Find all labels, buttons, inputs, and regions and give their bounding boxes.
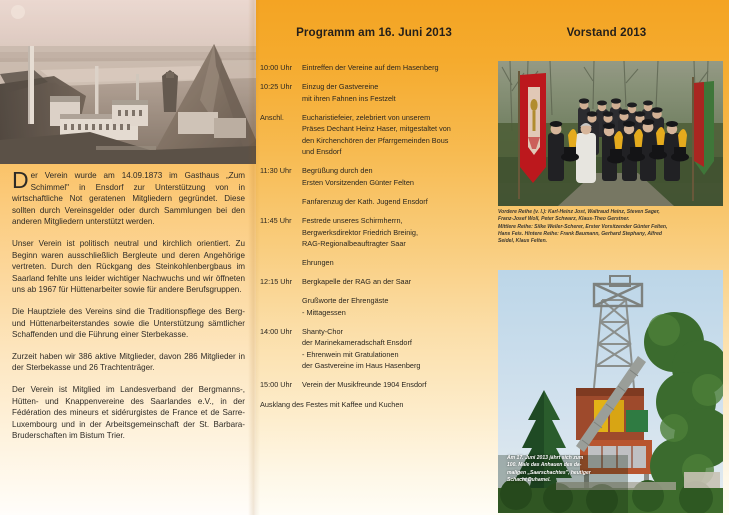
drop-cap: D [12, 171, 31, 190]
brochure-page: Der Verein wurde am 14.09.1873 im Gastha… [0, 0, 729, 515]
caption-line: Vordere Reihe (v. l.): Karl-Heinz Jost, … [498, 209, 724, 216]
program-line: Verein der Musikfreunde 1904 Ensdorf [302, 379, 492, 391]
program-line: Bergkapelle der RAG an der Saar [302, 276, 492, 288]
program-entry: Anschl. Eucharistiefeier, zelebriert von… [260, 112, 492, 158]
program-entry-greetings: Grußworte der Ehrengäste - Mittagessen [302, 295, 492, 318]
caption-line: Schacht Duhamel. [507, 477, 639, 484]
board-photo-caption: Vordere Reihe (v. l.): Karl-Heinz Jost, … [498, 209, 724, 246]
history-paragraph-3: Die Hauptziele des Vereins sind die Trad… [12, 306, 245, 341]
program-description: Shanty-Chor der Marinekameradschaft Ensd… [302, 326, 492, 372]
caption-line: 100. Male das Anhauen des da- [507, 462, 639, 469]
program-line: Eucharistiefeier, zelebriert von unserem [302, 112, 492, 124]
history-paragraph-2: Unser Verein ist politisch neutral und k… [12, 238, 245, 296]
program-column: Programm am 16. Juni 2013 10:00 Uhr Eint… [256, 0, 492, 515]
program-line: der Marinekameradschaft Ensdorf [302, 337, 492, 349]
program-closing-line: Ausklang des Festes mit Kaffee und Kuche… [260, 399, 492, 411]
program-entry: 11:45 Uhr Festrede unseres Schirmherrn, … [260, 215, 492, 250]
paragraph-body: er Verein wurde am 14.09.1873 im Gasthau… [12, 171, 245, 226]
caption-line: Mittlere Reihe: Silke Weiler-Scherer, Er… [498, 224, 724, 231]
board-column: Vorstand 2013 [492, 0, 729, 515]
history-paragraph-5: Der Verein ist Mitglied im Landesverband… [12, 384, 245, 442]
program-line: - Ehrenwein mit Gratulationen [302, 349, 492, 361]
program-line: den Kirchenchören der Pfarrgemeinden Bou… [302, 135, 492, 147]
program-line: Einzug der Gastvereine [302, 81, 492, 93]
program-description: Festrede unseres Schirmherrn, Bergwerksd… [302, 215, 492, 250]
program-line: RAG-Regionalbeauftragter Saar [302, 238, 492, 250]
program-line: Festrede unseres Schirmherrn, [302, 215, 492, 227]
program-time: 11:30 Uhr [260, 165, 302, 188]
program-entry-noteworthy: Fanfarenzug der Kath. Jugend Ensdorf [302, 196, 492, 208]
program-time: 15:00 Uhr [260, 379, 302, 391]
historic-mine-panorama-photo [0, 0, 256, 164]
program-line: Ersten Vorsitzenden Günter Felten [302, 177, 492, 189]
program-time: 10:25 Uhr [260, 81, 302, 104]
program-time: 14:00 Uhr [260, 326, 302, 372]
board-group-photo [498, 61, 723, 206]
program-line: Bergwerksdirektor Friedrich Breinig, [302, 227, 492, 239]
program-entry: 10:25 Uhr Einzug der Gastvereine mit ihr… [260, 81, 492, 104]
program-line: Präses Dechant Heinz Haser, mitgestaltet… [302, 123, 492, 135]
program-time: Anschl. [260, 112, 302, 158]
program-description: Eintreffen der Vereine auf dem Hasenberg [302, 62, 492, 74]
caption-line: Seidel, Klaus Felten. [498, 238, 724, 245]
program-entry: 12:15 Uhr Bergkapelle der RAG an der Saa… [260, 276, 492, 288]
program-description: Verein der Musikfreunde 1904 Ensdorf [302, 379, 492, 391]
program-line: Grußworte der Ehrengäste [302, 295, 492, 307]
program-entry: 15:00 Uhr Verein der Musikfreunde 1904 E… [260, 379, 492, 391]
caption-line: Franz-Josef Woll, Peter Schwarz, Klaus-T… [498, 216, 724, 223]
history-paragraph-1: Der Verein wurde am 14.09.1873 im Gastha… [12, 170, 245, 228]
caption-line: Hans Feis. Hintere Reihe: Frank Baumann,… [498, 231, 724, 238]
program-description: Begrüßung durch den Ersten Vorsitzenden … [302, 165, 492, 188]
program-line: der Gastvereine im Haus Hasenberg [302, 360, 492, 372]
program-time: 12:15 Uhr [260, 276, 302, 288]
program-line: Begrüßung durch den [302, 165, 492, 177]
program-entry-honors: Ehrungen [302, 257, 492, 269]
program-line: mit ihren Fahnen ins Festzelt [302, 93, 492, 105]
board-title: Vorstand 2013 [492, 26, 721, 39]
program-title: Programm am 16. Juni 2013 [256, 26, 492, 39]
program-entry: 14:00 Uhr Shanty-Chor der Marinekamerads… [260, 326, 492, 372]
shaft-photo-caption: Am 17. Juni 2013 jährt sich zum 100. Mal… [507, 455, 639, 485]
program-time: 10:00 Uhr [260, 62, 302, 74]
program-line: - Mittagessen [302, 307, 492, 319]
program-description: Bergkapelle der RAG an der Saar [302, 276, 492, 288]
program-entry: 10:00 Uhr Eintreffen der Vereine auf dem… [260, 62, 492, 74]
program-description: Einzug der Gastvereine mit ihren Fahnen … [302, 81, 492, 104]
program-line: Eintreffen der Vereine auf dem Hasenberg [302, 62, 492, 74]
history-paragraph-4: Zurzeit haben wir 386 aktive Mitglieder,… [12, 351, 245, 374]
left-column: Der Verein wurde am 14.09.1873 im Gastha… [0, 0, 256, 515]
program-entry: 11:30 Uhr Begrüßung durch den Ersten Vor… [260, 165, 492, 188]
program-line: und Ensdorf [302, 146, 492, 158]
club-history-text: Der Verein wurde am 14.09.1873 im Gastha… [12, 170, 245, 442]
program-schedule: 10:00 Uhr Eintreffen der Vereine auf dem… [260, 62, 492, 418]
program-time: 11:45 Uhr [260, 215, 302, 250]
program-description: Eucharistiefeier, zelebriert von unserem… [302, 112, 492, 158]
program-line: Shanty-Chor [302, 326, 492, 338]
